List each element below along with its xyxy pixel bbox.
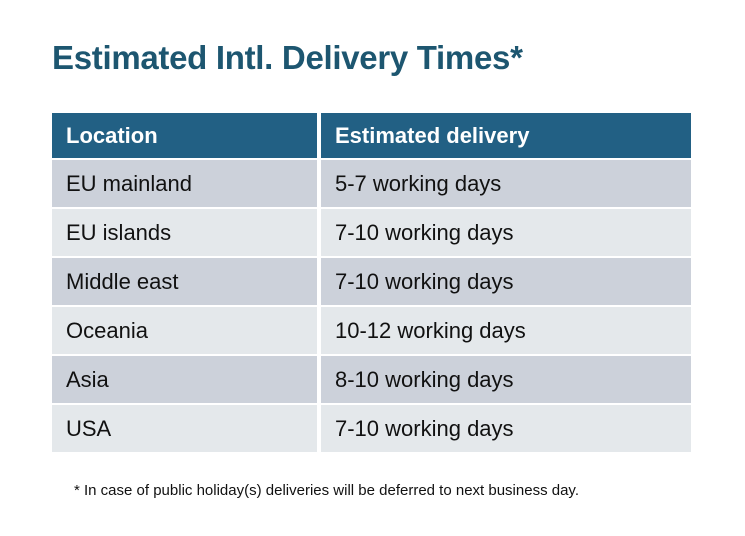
column-header-estimated-delivery: Estimated delivery — [321, 113, 691, 158]
cell-location: Middle east — [52, 258, 317, 305]
delivery-times-page: Estimated Intl. Delivery Times* Location… — [0, 0, 745, 536]
table-row: Middle east 7-10 working days — [52, 258, 691, 305]
cell-estimated-delivery: 7-10 working days — [321, 209, 691, 256]
table-row: Asia 8-10 working days — [52, 356, 691, 403]
cell-estimated-delivery: 10-12 working days — [321, 307, 691, 354]
cell-estimated-delivery: 5-7 working days — [321, 160, 691, 207]
page-title: Estimated Intl. Delivery Times* — [52, 38, 523, 78]
column-header-location: Location — [52, 113, 317, 158]
cell-estimated-delivery: 7-10 working days — [321, 258, 691, 305]
cell-estimated-delivery: 7-10 working days — [321, 405, 691, 452]
table-row: EU mainland 5-7 working days — [52, 160, 691, 207]
cell-location: USA — [52, 405, 317, 452]
footnote: * In case of public holiday(s) deliverie… — [74, 481, 579, 501]
cell-location: Asia — [52, 356, 317, 403]
table-row: USA 7-10 working days — [52, 405, 691, 452]
cell-location: EU mainland — [52, 160, 317, 207]
table-header-row: Location Estimated delivery — [52, 113, 691, 158]
cell-estimated-delivery: 8-10 working days — [321, 356, 691, 403]
table-row: EU islands 7-10 working days — [52, 209, 691, 256]
table-row: Oceania 10-12 working days — [52, 307, 691, 354]
cell-location: Oceania — [52, 307, 317, 354]
cell-location: EU islands — [52, 209, 317, 256]
delivery-times-table: Location Estimated delivery EU mainland … — [52, 113, 691, 452]
